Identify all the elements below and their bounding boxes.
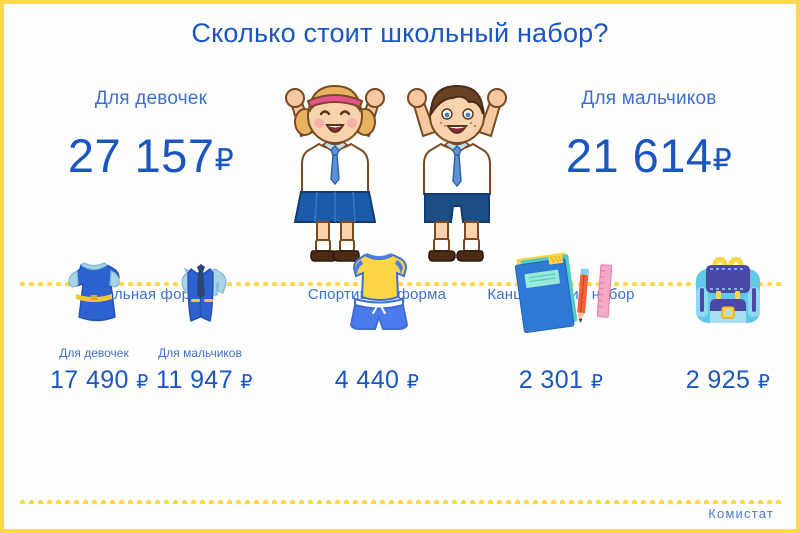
ruble-icon: ₽: [758, 372, 771, 393]
boys-total-number: 21 614: [566, 129, 713, 182]
price-sportswear: 4 440 ₽: [333, 366, 421, 395]
categories-section: Школьная форма Для девочек 17 490 ₽: [4, 286, 796, 496]
girl-pupil-illustration: [286, 86, 384, 261]
ruble-icon: ₽: [407, 372, 420, 393]
ruble-icon: ₽: [215, 144, 235, 177]
girls-total-block: Для девочек 27 157₽: [26, 88, 276, 179]
sportswear-item: 4 440 ₽: [333, 247, 421, 395]
boys-total-label: Для мальчиков: [524, 88, 774, 110]
girls-total-number: 27 157: [68, 129, 215, 182]
ruble-icon: ₽: [591, 372, 604, 393]
boys-total-value: 21 614₽: [524, 132, 774, 179]
boy-pupil-illustration: [408, 86, 506, 261]
ruble-icon: ₽: [713, 144, 733, 177]
stationery-item: 2 301 ₽: [496, 247, 626, 395]
brand-label: Комистат: [708, 506, 774, 521]
infographic-poster: Сколько стоит школьный набор? Для девоче…: [0, 0, 800, 533]
backpack-icon: [684, 247, 772, 333]
ruble-icon: ₽: [136, 372, 149, 393]
girls-total-label: Для девочек: [26, 88, 276, 110]
page-title: Сколько стоит школьный набор?: [4, 18, 796, 49]
dress-icon: [55, 255, 133, 335]
pupils-illustration: [265, 70, 535, 270]
sub-label: Для мальчиков: [156, 346, 244, 360]
stationery-icon: [501, 247, 621, 333]
price-uniform-boys: 11 947 ₽: [156, 366, 244, 395]
category-sportswear: Спортивная форма 4 440 ₽: [292, 286, 462, 395]
girls-total-value: 27 157₽: [26, 132, 276, 179]
vest-icon: [161, 255, 239, 335]
boys-total-block: Для мальчиков 21 614₽: [524, 88, 774, 179]
price-stationery: 2 301 ₽: [496, 366, 626, 395]
uniform-girls-item: Для девочек 17 490 ₽: [50, 255, 138, 395]
sportswear-icon: [333, 247, 425, 333]
category-stationery: Канцелярский набор: [466, 286, 656, 395]
uniform-boys-item: Для мальчиков 11 947 ₽: [156, 255, 244, 395]
category-school-uniform: Школьная форма Для девочек 17 490 ₽: [12, 286, 282, 395]
top-section: Сколько стоит школьный набор? Для девоче…: [4, 4, 796, 280]
ruble-icon: ₽: [240, 372, 253, 393]
section-divider-bottom: [18, 498, 782, 504]
price-backpack: 2 925 ₽: [673, 366, 783, 395]
price-uniform-girls: 17 490 ₽: [50, 366, 138, 395]
category-backpack: Ранец: [662, 286, 794, 395]
sub-label: Для девочек: [50, 346, 138, 360]
backpack-item: 2 925 ₽: [673, 247, 783, 395]
